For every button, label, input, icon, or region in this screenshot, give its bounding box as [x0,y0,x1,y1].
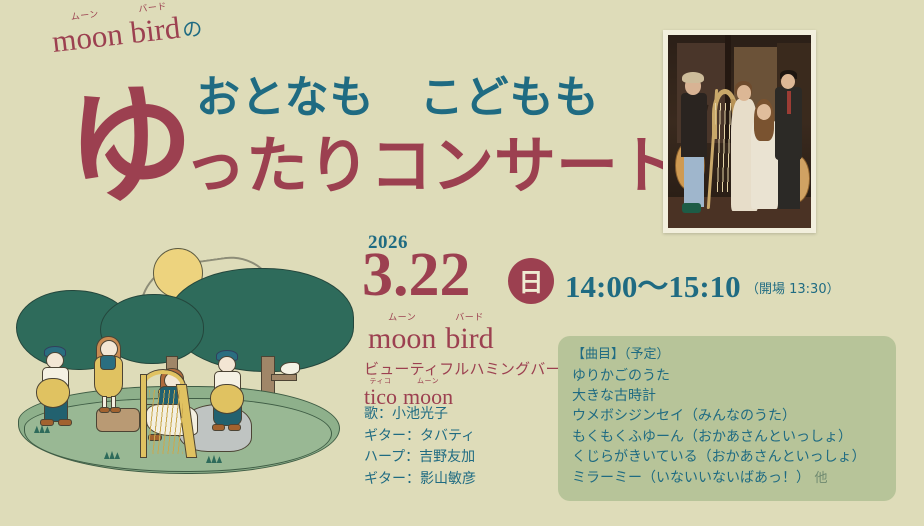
word-bird: bird [129,12,182,48]
member-item: ハープ：吉野友加 [364,447,476,469]
title-line-adults-children: おとなも こどもも [196,76,600,120]
member-list: 歌：小池光子 ギター：タバティ ハープ：吉野友加 ギター：影山敏彦 [364,404,476,491]
weekday-badge: 日 [508,258,554,304]
title-yu-char: ゆ [66,83,194,211]
song-suffix: 他 [814,471,827,486]
moonbird-heading: ムーン moon バード bird の [49,0,203,57]
event-time: 14:00〜15:10 [565,271,741,302]
member-item: ギター：影山敏彦 [364,469,476,491]
member-item: ギター：タバティ [364,426,476,448]
title-line-concert: ったりコンサート [184,135,680,197]
artist-unit-name: ビューティフルハミングバード [364,358,576,379]
poster-canvas: ムーン moon バード bird の おとなも こどもも ゆ ったりコンサート [0,0,924,526]
particle-no: の [181,18,203,40]
tree-branch [271,374,297,381]
ruby-group-moon: ムーン moon [49,8,124,57]
event-date: 3.22 [362,244,471,306]
song-item-last: ミラーミー（いないいないばあっ！） 他 [572,468,882,489]
artist-ruby-group-bird: バード bird [445,314,493,354]
setlist-items: ゆりかごのうた 大きな古時計 ウメボシジンセイ（みんなのうた） もくもくふゆーん… [572,366,882,489]
artist-ruby-group-moon: ムーン moon [368,314,436,354]
word-moon: moon [50,18,124,57]
member-item: 歌：小池光子 [364,404,476,426]
artist-word-moon: moon [368,324,436,354]
song-item: 大きな古時計 [572,386,882,406]
setlist-heading: 【曲目】（予定） [572,347,882,363]
bird-icon [280,362,300,375]
group-photo [663,30,816,233]
ruby-group-bird: バード bird [127,2,181,48]
harp-icon [140,370,194,458]
song-item: くじらがきいている（おかあさんといっしょ） [572,447,882,467]
song-item: ゆりかごのうた [572,366,882,386]
artist-word-bird: bird [445,324,493,354]
song-item: ウメボシジンセイ（みんなのうた） [572,406,882,426]
song-title: ミラーミー（いないいないばあっ！） [572,470,810,486]
setlist-box: 【曲目】（予定） ゆりかごのうた 大きな古時計 ウメボシジンセイ（みんなのうた）… [558,336,896,501]
song-item: もくもくふゆーん（おかあさんといっしょ） [572,427,882,447]
park-band-illustration [18,238,358,474]
photo-image [668,35,811,228]
doors-open-time: （開場 13:30） [746,283,840,296]
artist-moonbird: ムーン moon バード bird [368,314,494,354]
